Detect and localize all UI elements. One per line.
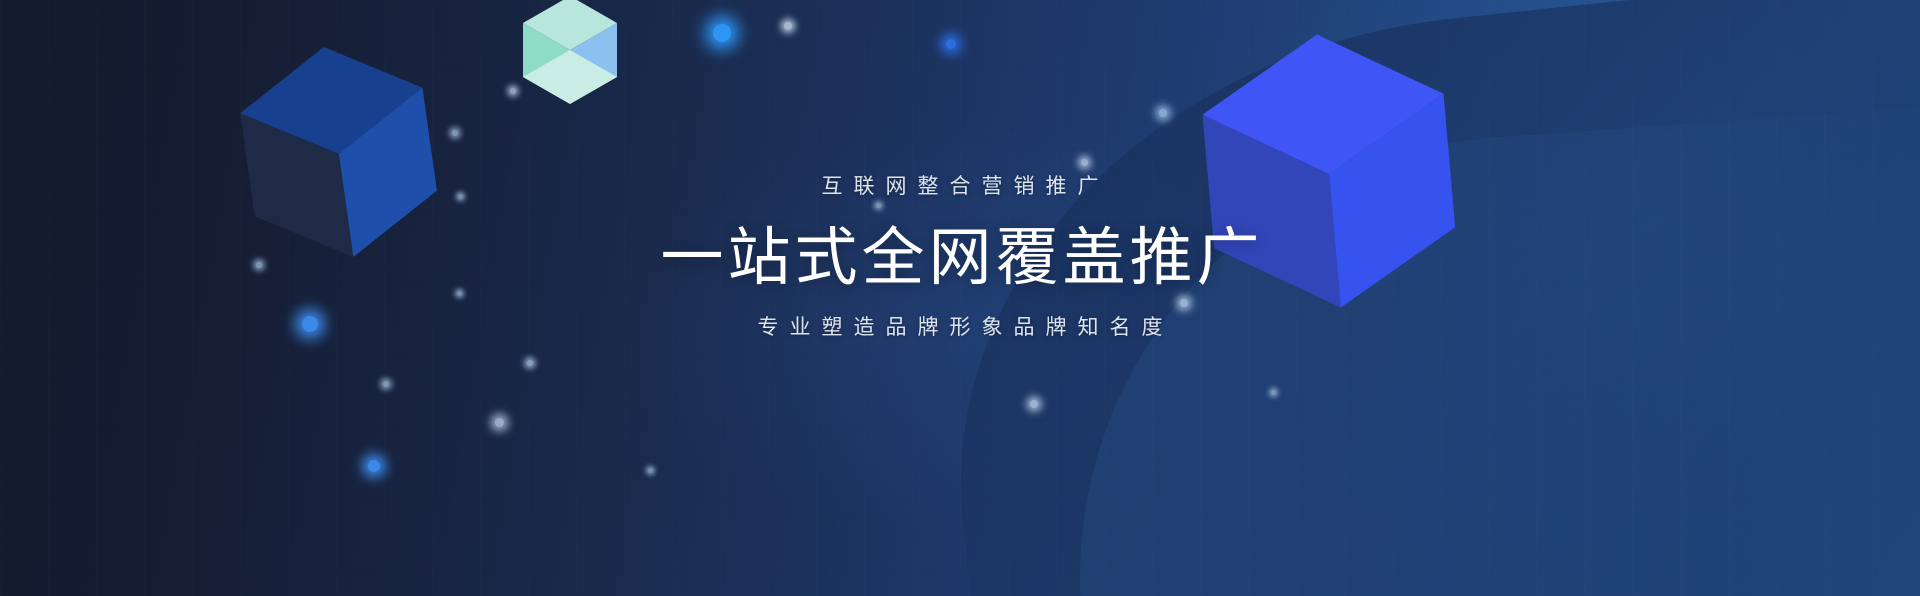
small-center-cube-icon: [518, 0, 622, 110]
particle-dot: [495, 418, 504, 427]
particle-dot: [1030, 400, 1038, 408]
particle-dot: [1081, 159, 1088, 166]
particle-dot: [784, 22, 792, 30]
banner-subtitle: 专业塑造品牌形象品牌知名度: [0, 317, 1920, 338]
particle-dot: [713, 24, 731, 42]
promo-banner: 互联网整合营销推广 一站式全网覆盖推广 专业塑造品牌形象品牌知名度: [0, 0, 1920, 596]
particle-dot: [946, 39, 956, 49]
banner-tagline: 互联网整合营销推广: [0, 176, 1920, 197]
banner-headline: 一站式全网覆盖推广: [0, 225, 1920, 291]
particle-dot: [648, 468, 653, 473]
banner-text-block: 互联网整合营销推广 一站式全网覆盖推广 专业塑造品牌形象品牌知名度: [0, 176, 1920, 338]
particle-dot: [1159, 109, 1167, 117]
particle-dot: [452, 130, 458, 136]
particle-dot: [383, 381, 389, 387]
particle-dot: [527, 360, 533, 366]
particle-dot: [1271, 390, 1276, 395]
particle-dot: [510, 88, 516, 94]
particle-dot: [368, 460, 380, 472]
